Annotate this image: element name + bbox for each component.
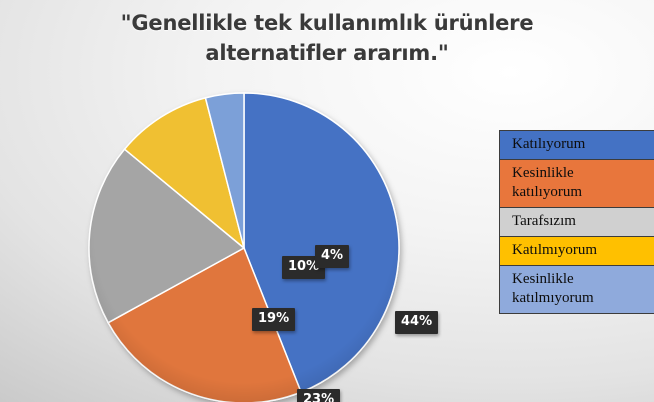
legend-item-0[interactable]: Katılıyorum xyxy=(500,131,654,160)
chart-legend: KatılıyorumKesinliklekatılıyorumTarafsız… xyxy=(499,130,654,314)
slide-canvas: "Genellikle tek kullanımlık ürünlere alt… xyxy=(0,0,654,402)
title-line-1: "Genellikle tek kullanımlık ürünlere xyxy=(60,8,594,38)
legend-item-label: katılıyorum xyxy=(512,183,654,202)
legend-item-label: Katılıyorum xyxy=(512,135,654,154)
pie-chart: 44% 23% 19% 10% 4% xyxy=(86,90,402,402)
pie-slice-group xyxy=(89,93,399,402)
legend-item-2[interactable]: Tarafsızım xyxy=(500,208,654,237)
data-label-katiliyorum: 44% xyxy=(395,311,438,334)
page-title: "Genellikle tek kullanımlık ürünlere alt… xyxy=(60,8,594,68)
legend-item-label: Kesinlikle xyxy=(512,164,654,183)
data-label-tarafsizim: 19% xyxy=(252,308,295,331)
legend-item-3[interactable]: Katılmıyorum xyxy=(500,237,654,266)
legend-item-label: Katılmıyorum xyxy=(512,241,654,260)
legend-item-1[interactable]: Kesinliklekatılıyorum xyxy=(500,160,654,208)
legend-item-label: Tarafsızım xyxy=(512,212,654,231)
title-line-2: alternatifler ararım." xyxy=(60,38,594,68)
legend-item-4[interactable]: Kesinliklekatılmıyorum xyxy=(500,266,654,314)
legend-item-label: katılmıyorum xyxy=(512,289,654,308)
legend-item-label: Kesinlikle xyxy=(512,270,654,289)
data-label-kesinlikle-katilmiyorum: 4% xyxy=(315,245,349,268)
pie-chart-svg xyxy=(86,90,402,402)
data-label-kesinlikle-katiliyorum: 23% xyxy=(297,389,340,402)
